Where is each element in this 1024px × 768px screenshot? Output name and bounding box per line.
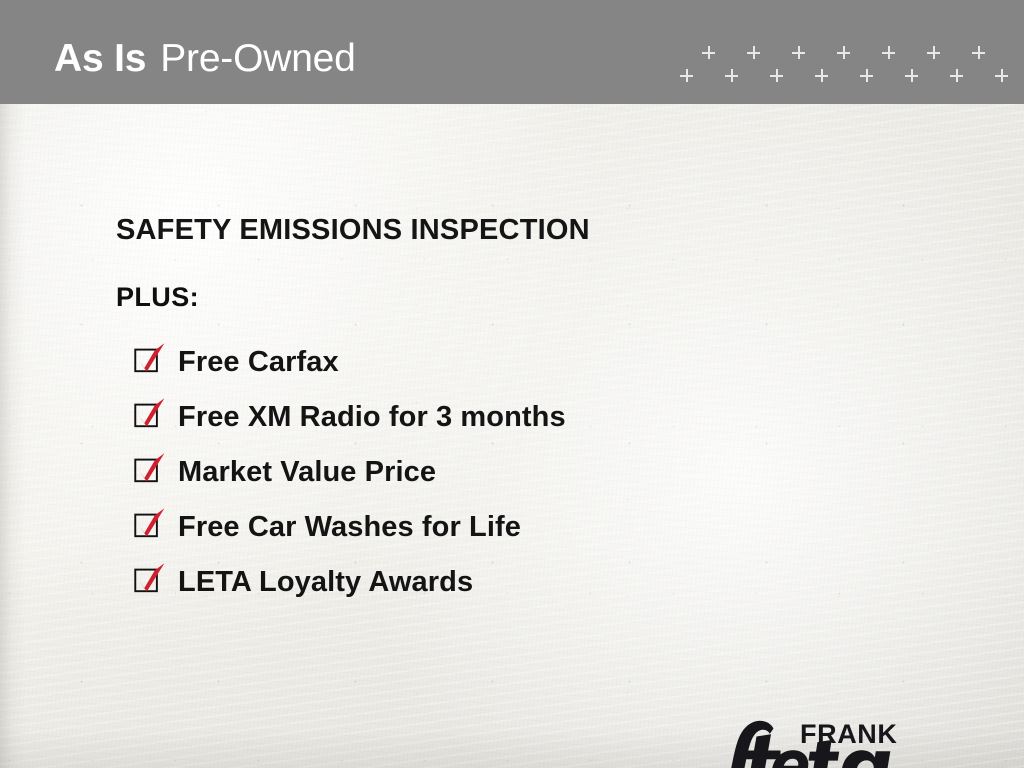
checkbox-checked-icon[interactable] xyxy=(134,452,166,484)
plus-mark-icon xyxy=(905,69,918,82)
checkbox-checked-icon[interactable] xyxy=(134,342,166,374)
plus-mark-icon xyxy=(792,46,805,59)
plus-pattern-decoration xyxy=(672,40,1012,90)
plus-mark-icon xyxy=(837,46,850,59)
header-bar: As IsPre-Owned xyxy=(0,0,1024,104)
checklist-item[interactable]: Market Value Price xyxy=(134,444,566,499)
plus-mark-icon xyxy=(972,46,985,59)
logo-frank-text: FRANK xyxy=(800,721,898,748)
slide-body: SAFETY EMISSIONS INSPECTION PLUS: Free C… xyxy=(0,104,1024,768)
checklist-item[interactable]: LETA Loyalty Awards xyxy=(134,554,566,609)
checklist-item[interactable]: Free Car Washes for Life xyxy=(134,499,566,554)
checkbox-checked-icon[interactable] xyxy=(134,397,166,429)
subhead-text: PLUS: xyxy=(116,282,199,313)
plus-mark-icon xyxy=(680,69,693,82)
checklist-item-label: LETA Loyalty Awards xyxy=(178,568,473,597)
page-title: As IsPre-Owned xyxy=(54,36,356,82)
checklist-item-label: Free XM Radio for 3 months xyxy=(178,403,566,432)
checklist-item-label: Free Carfax xyxy=(178,348,339,377)
plus-mark-icon xyxy=(882,46,895,59)
page-title-light: Pre-Owned xyxy=(160,37,355,80)
plus-mark-icon xyxy=(725,69,738,82)
checkbox-checked-icon[interactable] xyxy=(134,562,166,594)
checklist-item[interactable]: Free Carfax xyxy=(134,334,566,389)
checklist-item[interactable]: Free XM Radio for 3 months xyxy=(134,389,566,444)
page-title-strong: As Is xyxy=(54,37,146,80)
headline-text: SAFETY EMISSIONS INSPECTION xyxy=(116,214,590,247)
plus-mark-icon xyxy=(860,69,873,82)
benefits-checklist: Free CarfaxFree XM Radio for 3 monthsMar… xyxy=(134,334,566,609)
checkbox-checked-icon[interactable] xyxy=(134,507,166,539)
checklist-item-label: Free Car Washes for Life xyxy=(178,513,521,542)
plus-mark-icon xyxy=(995,69,1008,82)
plus-mark-icon xyxy=(702,46,715,59)
slide: As IsPre-Owned SAFETY EMISSIONS INSPECTI… xyxy=(0,0,1024,768)
plus-mark-icon xyxy=(815,69,828,82)
checklist-item-label: Market Value Price xyxy=(178,458,436,487)
frank-leta-logo: FRANK xyxy=(700,710,915,768)
plus-mark-icon xyxy=(950,69,963,82)
plus-row-bottom xyxy=(672,69,1012,83)
plus-row-top xyxy=(672,46,1012,60)
plus-mark-icon xyxy=(747,46,760,59)
plus-mark-icon xyxy=(770,69,783,82)
plus-mark-icon xyxy=(927,46,940,59)
